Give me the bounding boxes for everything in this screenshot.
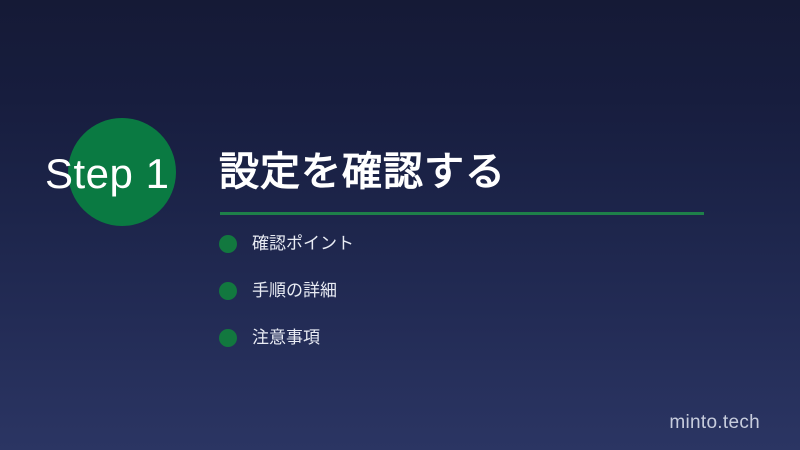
bullet-list: 確認ポイント 手順の詳細 注意事項 xyxy=(219,234,719,375)
list-item: 注意事項 xyxy=(219,328,719,348)
list-item-label: 確認ポイント xyxy=(252,234,354,254)
step-label: Step 1 xyxy=(45,151,205,197)
list-item-label: 注意事項 xyxy=(252,328,320,348)
list-item-label: 手順の詳細 xyxy=(252,281,337,301)
bullet-dot-icon xyxy=(219,235,237,253)
list-item: 手順の詳細 xyxy=(219,281,719,301)
bullet-dot-icon xyxy=(219,329,237,347)
bullet-dot-icon xyxy=(219,282,237,300)
title-divider xyxy=(220,212,704,215)
page-title: 設定を確認する xyxy=(219,146,506,198)
footer-brand: minto.tech xyxy=(669,412,760,434)
slide-canvas: Step 1 設定を確認する 確認ポイント 手順の詳細 注意事項 minto.t… xyxy=(0,0,800,450)
list-item: 確認ポイント xyxy=(219,234,719,254)
